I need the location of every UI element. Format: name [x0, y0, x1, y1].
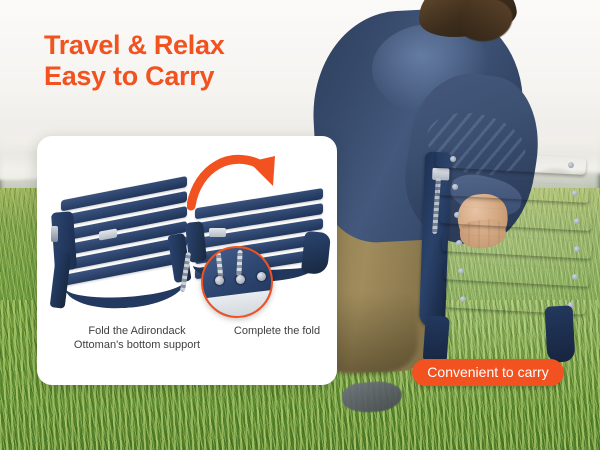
screw-icon: [574, 218, 580, 224]
status-badge: Convenient to carry: [412, 359, 564, 386]
step-right-caption: Complete the fold: [223, 324, 331, 338]
screw-icon: [568, 162, 574, 168]
ottoman-slat: [440, 206, 593, 231]
ottoman-slat: [436, 150, 587, 175]
page-title: Travel & Relax Easy to Carry: [44, 30, 344, 92]
person-shoe: [341, 379, 403, 414]
step-left-caption: Fold the Adirondack Ottoman's bottom sup…: [49, 324, 225, 352]
caption-line-2: Ottoman's bottom support: [49, 338, 225, 352]
ottoman-slat: [442, 234, 593, 259]
callout-pin: [216, 252, 224, 278]
caption-line-1: Fold the Adirondack: [49, 324, 225, 338]
ottoman-brand-label: [209, 228, 226, 237]
screw-icon: [454, 212, 460, 218]
screw-icon: [458, 268, 464, 274]
headline-line-1: Travel & Relax: [44, 30, 344, 61]
ottoman-hinge-hardware: [51, 226, 58, 242]
ottoman-slat: [438, 178, 591, 203]
ottoman-slat: [444, 262, 591, 287]
ottoman-folded-leg: [301, 231, 331, 275]
carried-ottoman: [418, 148, 600, 378]
callout-bolt-icon: [257, 272, 266, 281]
detail-callout-circle: [201, 246, 273, 318]
callout-bolt-icon: [236, 275, 245, 284]
ottoman-front-curve: [64, 257, 186, 311]
screw-icon: [572, 190, 578, 196]
screw-icon: [572, 274, 578, 280]
ottoman-foot: [545, 305, 576, 362]
screw-icon: [574, 246, 580, 252]
screw-icon: [456, 240, 462, 246]
ottoman-unfolded-illustration: [47, 168, 197, 313]
instruction-panel: Fold the Adirondack Ottoman's bottom sup…: [37, 136, 337, 385]
product-marketing-image: Travel & Relax Easy to Carry: [0, 0, 600, 450]
screw-icon: [450, 156, 456, 162]
callout-pin: [236, 250, 242, 276]
callout-bolt-icon: [215, 276, 224, 285]
screw-icon: [460, 296, 466, 302]
screw-icon: [452, 184, 458, 190]
headline-line-2: Easy to Carry: [44, 61, 344, 92]
